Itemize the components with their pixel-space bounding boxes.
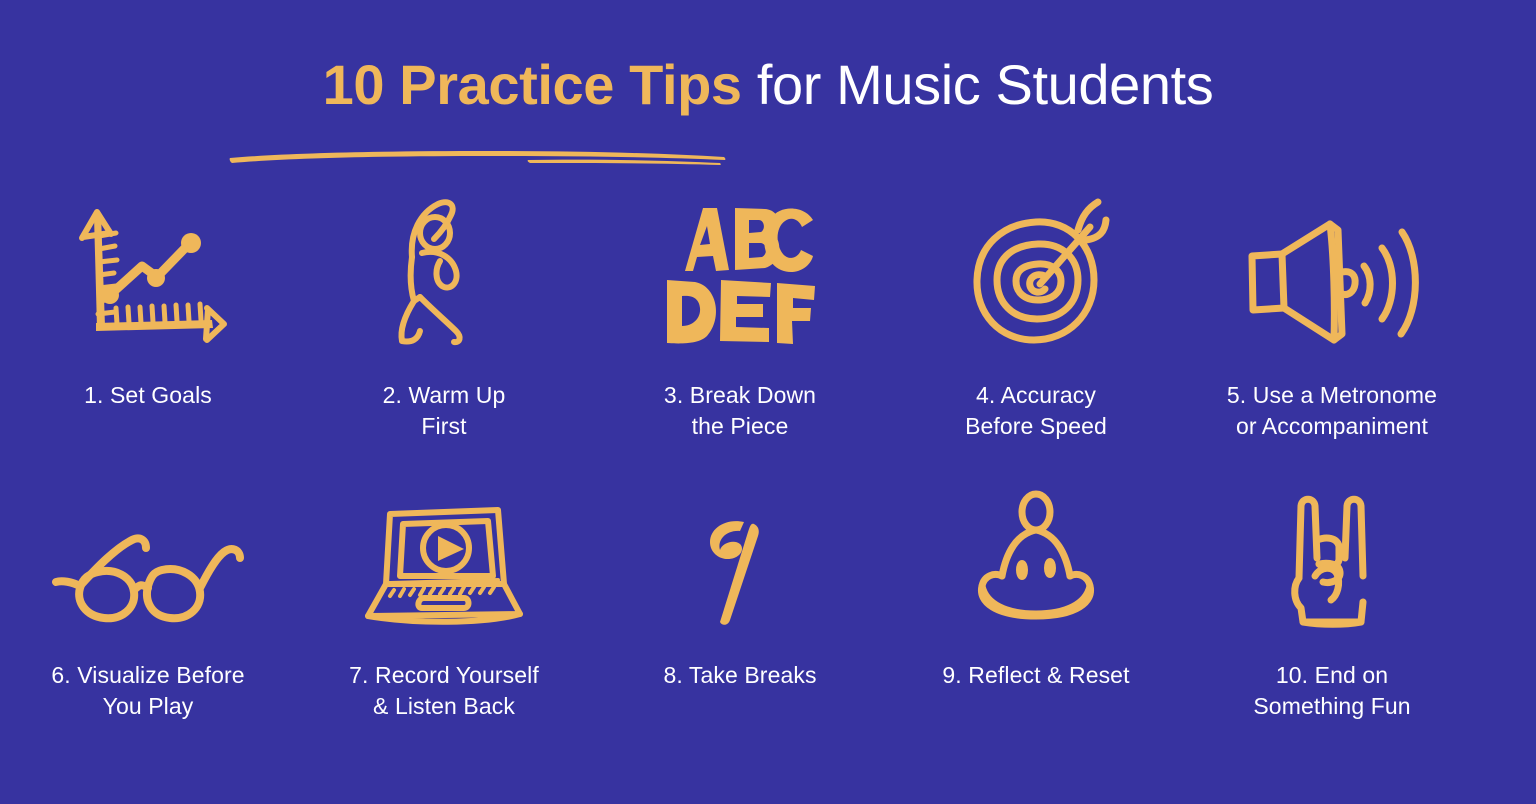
tip-card-7[interactable]: 7. Record Yourself & Listen Back <box>299 488 589 723</box>
brush-underline-icon <box>228 144 728 168</box>
tip-6-icon-box <box>52 488 244 628</box>
tip-8-label: 8. Take Breaks <box>663 660 816 691</box>
tip-card-4[interactable]: 4. Accuracy Before Speed <box>891 196 1181 443</box>
tip-5-label: 5. Use a Metronome or Accompaniment <box>1227 380 1437 443</box>
tip-3-icon-box <box>665 196 815 346</box>
speaker-sound-waves-icon <box>1246 214 1418 346</box>
page-title: 10 Practice Tips for Music Students <box>0 56 1536 113</box>
tip-card-2[interactable]: 2. Warm Up First <box>299 196 589 443</box>
tip-3-label: 3. Break Down the Piece <box>664 380 816 443</box>
tip-4-icon-box <box>966 196 1106 346</box>
tip-2-label: 2. Warm Up First <box>383 380 506 443</box>
title-accent-text: 10 Practice Tips <box>323 53 742 116</box>
musical-rest-icon <box>708 518 772 628</box>
eyeglasses-icon <box>52 518 244 628</box>
title-rest-text: for Music Students <box>742 53 1214 116</box>
tip-4-label: 4. Accuracy Before Speed <box>965 380 1107 443</box>
laptop-play-button-icon <box>354 506 534 628</box>
tip-10-icon-box <box>1285 488 1379 628</box>
tip-card-9[interactable]: 9. Reflect & Reset <box>891 488 1181 691</box>
tip-5-icon-box <box>1246 196 1418 346</box>
stretching-person-icon <box>390 191 498 346</box>
target-arrow-icon <box>966 194 1106 346</box>
tip-9-label: 9. Reflect & Reset <box>942 660 1129 691</box>
meditating-person-icon <box>972 492 1100 628</box>
tip-card-10[interactable]: 10. End on Something Fun <box>1187 488 1477 723</box>
tip-7-icon-box <box>354 488 534 628</box>
tips-row-2: 6. Visualize Before You Play <box>0 488 1536 723</box>
tip-7-label: 7. Record Yourself & Listen Back <box>349 660 539 723</box>
tips-row-1: 1. Set Goals <box>0 196 1536 443</box>
tip-1-icon-box <box>72 196 224 346</box>
tip-8-icon-box <box>708 488 772 628</box>
tip-2-icon-box <box>390 196 498 346</box>
tip-card-8[interactable]: 8. Take Breaks <box>595 488 885 691</box>
abc-def-letters-icon <box>665 198 815 346</box>
tip-card-3[interactable]: 3. Break Down the Piece <box>595 196 885 443</box>
tip-card-5[interactable]: 5. Use a Metronome or Accompaniment <box>1187 196 1477 443</box>
infographic-poster: 10 Practice Tips for Music Students <box>0 0 1536 804</box>
title-underline <box>228 144 728 168</box>
tip-9-icon-box <box>972 488 1100 628</box>
tip-1-label: 1. Set Goals <box>84 380 212 411</box>
tip-card-1[interactable]: 1. Set Goals <box>3 196 293 411</box>
line-chart-icon <box>72 200 224 346</box>
tip-10-label: 10. End on Something Fun <box>1253 660 1410 723</box>
poster-header: 10 Practice Tips for Music Students <box>0 56 1536 113</box>
tip-6-label: 6. Visualize Before You Play <box>51 660 244 723</box>
rock-on-hand-icon <box>1285 492 1379 628</box>
tip-card-6[interactable]: 6. Visualize Before You Play <box>3 488 293 723</box>
